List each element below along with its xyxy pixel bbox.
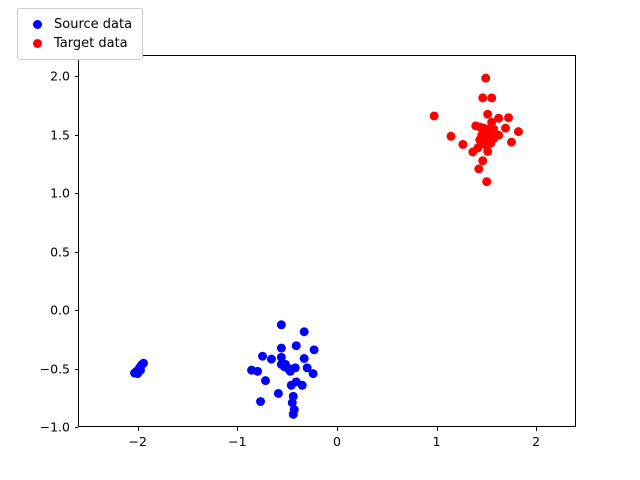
data-point <box>483 110 492 119</box>
data-point <box>430 111 439 120</box>
y-tick-mark <box>75 135 79 136</box>
x-tick-mark <box>138 427 139 431</box>
x-tick-mark <box>337 427 338 431</box>
data-point <box>287 381 296 390</box>
data-point <box>300 327 309 336</box>
chart-legend: Source data Target data <box>17 8 143 60</box>
x-tick-label: 0 <box>333 434 341 449</box>
y-tick-mark <box>75 369 79 370</box>
x-tick-mark <box>237 427 238 431</box>
data-point <box>267 355 276 364</box>
data-point <box>277 320 286 329</box>
data-point <box>247 366 256 375</box>
data-point <box>478 156 487 165</box>
y-tick-label: −1.0 <box>20 420 70 435</box>
y-tick-label: 0.0 <box>20 303 70 318</box>
data-point <box>504 113 513 122</box>
y-tick-label: 0.5 <box>20 244 70 259</box>
y-tick-label: 1.0 <box>20 186 70 201</box>
data-point <box>478 93 487 102</box>
x-tick-label: −2 <box>129 434 147 449</box>
y-tick-mark <box>75 427 79 428</box>
data-point <box>274 389 283 398</box>
data-point <box>289 410 298 419</box>
x-tick-label: 1 <box>433 434 441 449</box>
data-point <box>292 341 301 350</box>
data-point <box>507 138 516 147</box>
x-tick-mark <box>437 427 438 431</box>
x-tick-mark <box>536 427 537 431</box>
data-point <box>487 93 496 102</box>
x-tick-label: −1 <box>228 434 246 449</box>
y-tick-label: −0.5 <box>20 361 70 376</box>
data-point <box>298 381 307 390</box>
legend-item-target: Target data <box>26 34 132 53</box>
data-point <box>481 74 490 83</box>
data-point <box>277 344 286 353</box>
y-tick-mark <box>75 76 79 77</box>
data-point <box>483 147 492 156</box>
y-tick-mark <box>75 193 79 194</box>
data-point <box>482 177 491 186</box>
data-point <box>474 164 483 173</box>
figure-canvas: −1.0−0.50.00.51.01.52.0 −2−1012 Source d… <box>0 0 640 480</box>
legend-marker-source-icon <box>26 20 48 29</box>
legend-label-source: Source data <box>54 17 132 32</box>
data-point <box>310 345 319 354</box>
data-point <box>309 369 318 378</box>
scatter-series-source <box>130 320 319 419</box>
y-tick-label: 2.0 <box>20 69 70 84</box>
data-point <box>475 135 484 144</box>
data-point <box>447 132 456 141</box>
scatter-points-layer <box>79 56 575 426</box>
data-point <box>258 352 267 361</box>
x-tick-label: 2 <box>532 434 540 449</box>
data-point <box>489 134 498 143</box>
data-point <box>256 397 265 406</box>
data-point <box>514 127 523 136</box>
data-point <box>300 354 309 363</box>
data-point <box>487 118 496 127</box>
legend-item-source: Source data <box>26 15 132 34</box>
plot-axes <box>78 55 576 427</box>
data-point <box>458 140 467 149</box>
legend-label-target: Target data <box>54 36 128 51</box>
data-point <box>261 376 270 385</box>
data-point <box>286 367 295 376</box>
y-tick-label: 1.5 <box>20 127 70 142</box>
data-point <box>501 124 510 133</box>
data-point <box>132 367 141 376</box>
y-tick-mark <box>75 252 79 253</box>
legend-marker-target-icon <box>26 39 48 48</box>
y-tick-mark <box>75 310 79 311</box>
scatter-series-target <box>430 74 523 187</box>
